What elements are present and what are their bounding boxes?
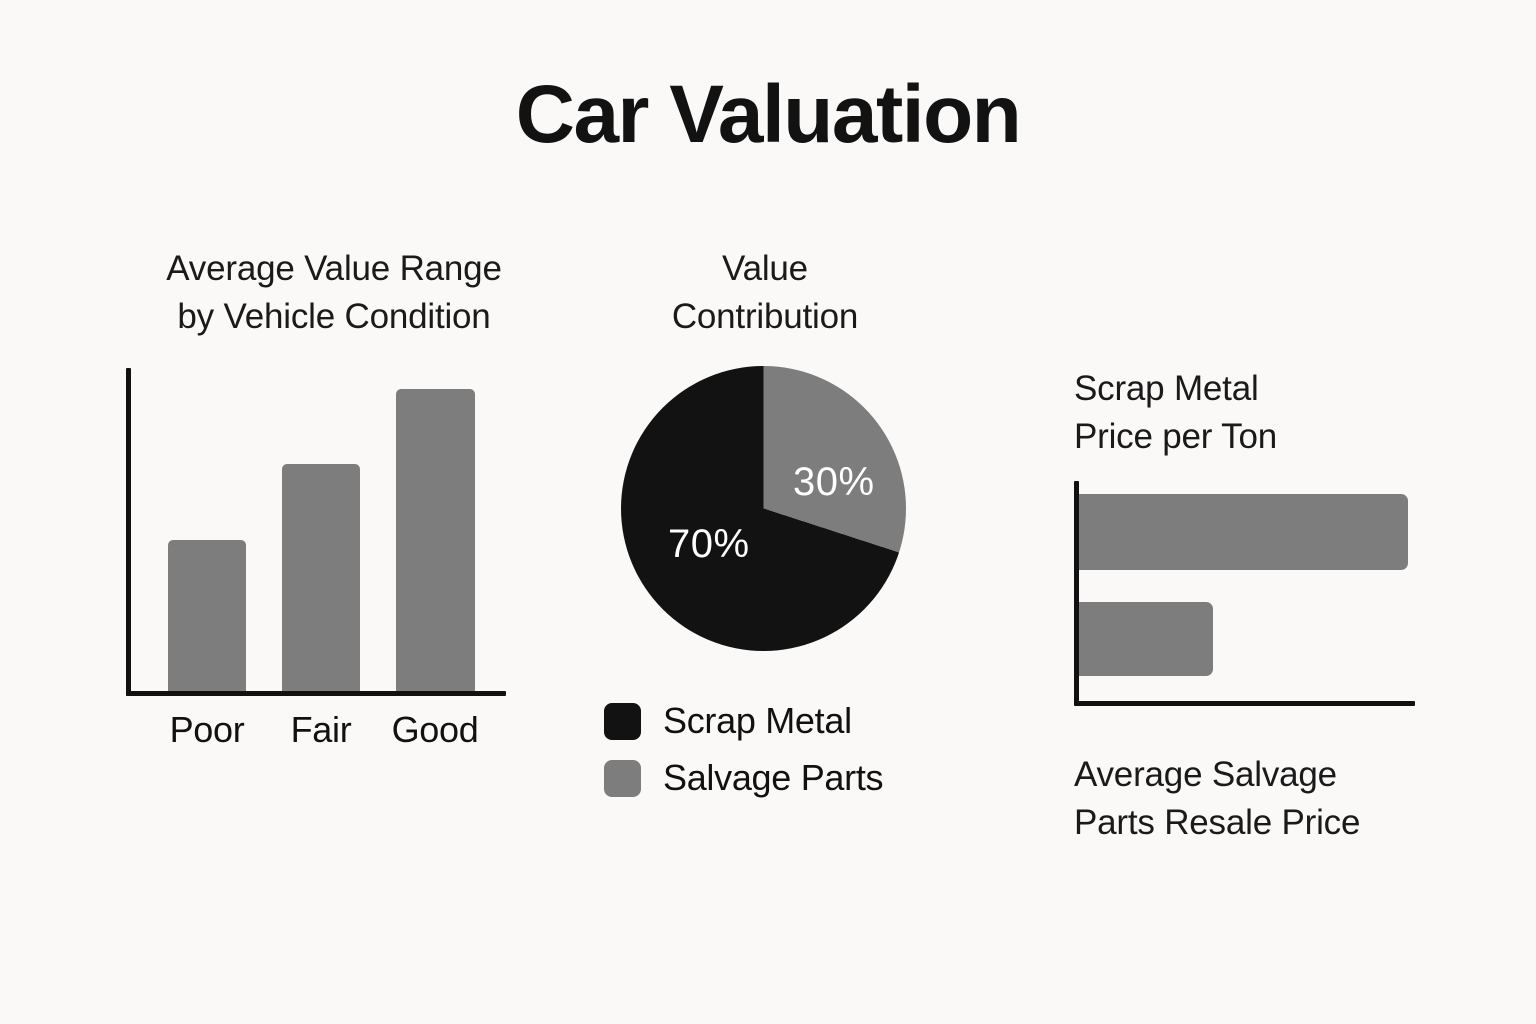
- hbar-chart-x-axis: [1074, 701, 1415, 706]
- hbar-chart-title: Scrap Metal Price per Ton: [1074, 365, 1474, 462]
- hbar-chart-panel: Scrap Metal Price per Ton Average Salvag…: [0, 0, 1536, 1024]
- hbar-salvage-parts-price: [1079, 602, 1213, 676]
- hbar-scrap-metal-price: [1079, 494, 1408, 570]
- infographic-canvas: Car Valuation Average Value Range by Veh…: [0, 0, 1536, 1024]
- hbar-chart-caption: Average Salvage Parts Resale Price: [1074, 751, 1474, 848]
